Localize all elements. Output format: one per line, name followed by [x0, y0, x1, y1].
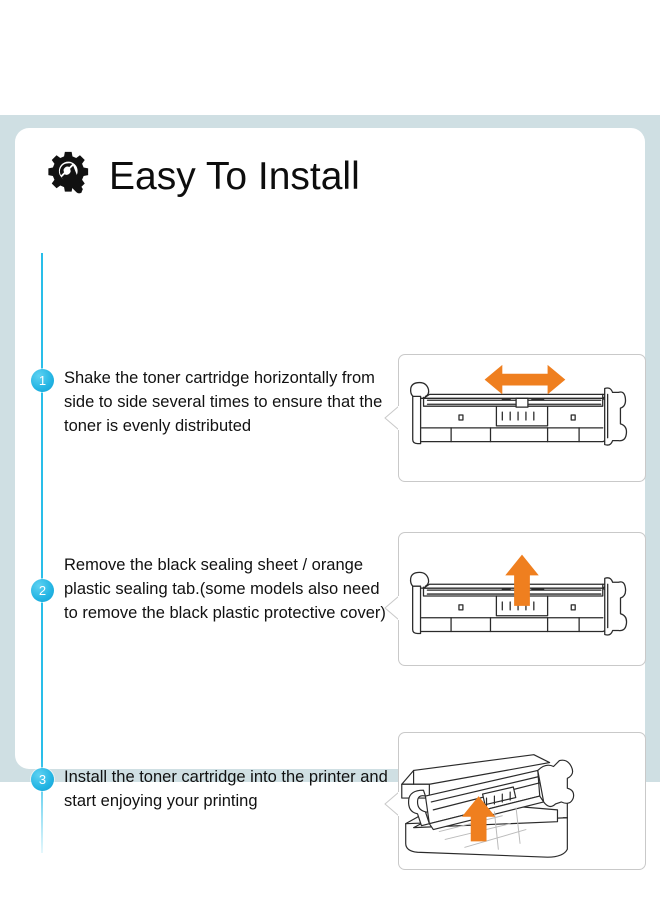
infographic-page: Easy To Install 1 Shake the toner cartri… [0, 0, 660, 900]
step-description: Remove the black sealing sheet / orange … [64, 553, 391, 625]
double-headed-horizontal-arrow-icon [399, 355, 645, 481]
illustration-panel-install-printer [398, 732, 646, 870]
callout-tail-icon [384, 791, 400, 817]
step-number-badge: 3 [31, 768, 54, 791]
illustration-panel-remove-seal [398, 532, 646, 666]
step-description: Shake the toner cartridge horizontally f… [64, 366, 391, 438]
up-arrow-icon [399, 533, 645, 665]
step-item: 3 Install the toner cartridge into the p… [31, 765, 391, 813]
content-card: Easy To Install 1 Shake the toner cartri… [15, 128, 645, 769]
page-title: Easy To Install [109, 157, 360, 196]
step-description: Install the toner cartridge into the pri… [64, 765, 391, 813]
illustration-panel-shake [398, 354, 646, 482]
page-header: Easy To Install [45, 150, 360, 203]
gear-wrench-icon [45, 150, 93, 203]
callout-tail-icon [384, 405, 400, 431]
down-arrow-icon [399, 733, 645, 869]
callout-tail-icon [384, 595, 400, 621]
step-number-badge: 2 [31, 579, 54, 602]
step-item: 2 Remove the black sealing sheet / orang… [31, 553, 391, 625]
step-number-badge: 1 [31, 369, 54, 392]
step-item: 1 Shake the toner cartridge horizontally… [31, 366, 391, 438]
